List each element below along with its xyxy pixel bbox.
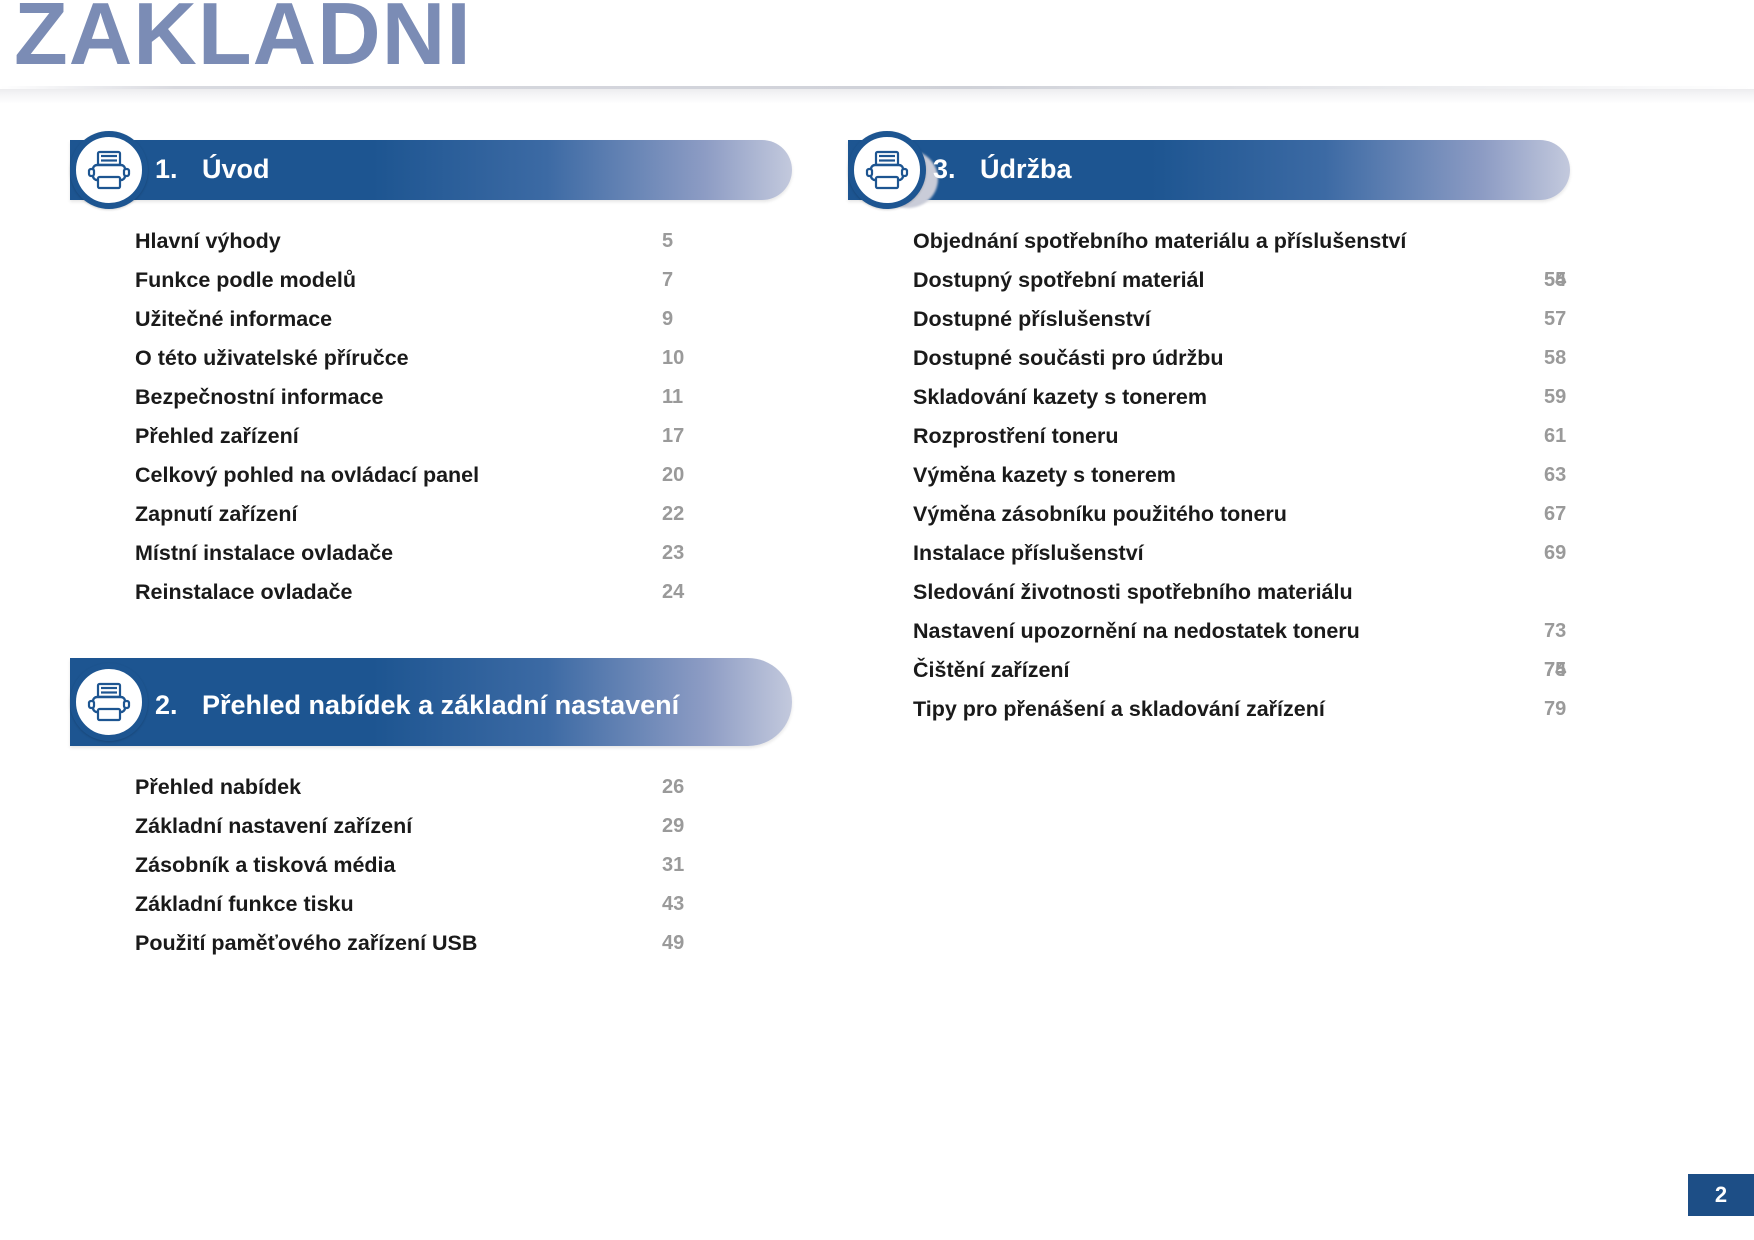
toc-entry[interactable]: Bezpečnostní informace 11 bbox=[135, 378, 792, 417]
toc-entry[interactable]: Hlavní výhody 5 bbox=[135, 222, 792, 261]
toc-entry[interactable]: Dostupné součásti pro údržbu 58 bbox=[913, 339, 1570, 378]
section-3-banner: 3. Údržba bbox=[848, 140, 1570, 200]
toc-entry-label: Nastavení upozornění na nedostatek toner… bbox=[913, 619, 1360, 643]
left-column: 1. Úvod Hlavní výhody 5 Funkce podle mod… bbox=[22, 140, 792, 963]
toc-entry[interactable]: Rozprostření toneru 61 bbox=[913, 417, 1570, 456]
toc-entry-page: 43 bbox=[662, 885, 684, 924]
toc-entry[interactable]: Základní funkce tisku 43 bbox=[135, 885, 792, 924]
toc-entry-page: 5 bbox=[662, 222, 673, 261]
toc-entry-page: 73 bbox=[1544, 612, 1566, 651]
toc-entry-label: Tipy pro přenášení a skladování zařízení bbox=[913, 697, 1325, 721]
toc-entry-page: 31 bbox=[662, 846, 684, 885]
toc-entry-label: Užitečné informace bbox=[135, 307, 332, 331]
toc-entry-page: 26 bbox=[662, 768, 684, 807]
toc-entry-label: Objednání spotřebního materiálu a příslu… bbox=[913, 229, 1406, 253]
toc-entry-label: O této uživatelské příručce bbox=[135, 346, 409, 370]
toc-entry[interactable]: Přehled zařízení 17 bbox=[135, 417, 792, 456]
toc-entry-label: Základní nastavení zařízení bbox=[135, 814, 412, 838]
toc-entry-page: 11 bbox=[662, 378, 683, 417]
toc-entry-label: Bezpečnostní informace bbox=[135, 385, 384, 409]
section-3-toc: Objednání spotřebního materiálu a příslu… bbox=[800, 222, 1570, 729]
toc-entry-label: Dostupné součásti pro údržbu bbox=[913, 346, 1224, 370]
section-1-toc: Hlavní výhody 5 Funkce podle modelů 7 Už… bbox=[22, 222, 792, 612]
toc-entry-label: Funkce podle modelů bbox=[135, 268, 356, 292]
toc-entry-label: Výměna zásobníku použitého toneru bbox=[913, 502, 1287, 526]
printer-icon bbox=[848, 131, 926, 209]
toc-entry-label: Základní funkce tisku bbox=[135, 892, 354, 916]
toc-entry-label: Reinstalace ovladače bbox=[135, 580, 353, 604]
toc-entry-label: Zásobník a tisková média bbox=[135, 853, 396, 877]
toc-entry-label: Použití paměťového zařízení USB bbox=[135, 931, 477, 955]
toc-entry[interactable]: Dostupný spotřební materiál 55 bbox=[913, 261, 1570, 300]
toc-entry[interactable]: Reinstalace ovladače 24 bbox=[135, 573, 792, 612]
toc-entry[interactable]: Užitečné informace 9 bbox=[135, 300, 792, 339]
toc-entry[interactable]: Funkce podle modelů 7 bbox=[135, 261, 792, 300]
toc-entry[interactable]: Zásobník a tisková média 31 bbox=[135, 846, 792, 885]
section-1: 1. Úvod Hlavní výhody 5 Funkce podle mod… bbox=[22, 140, 792, 612]
section-1-label: Úvod bbox=[202, 153, 270, 187]
page-title: ZÁKLADNÍ bbox=[14, 0, 472, 80]
toc-entry-page: 29 bbox=[662, 807, 684, 846]
page-number-badge: 2 bbox=[1688, 1174, 1754, 1216]
toc-entry[interactable]: Základní nastavení zařízení 29 bbox=[135, 807, 792, 846]
toc-entry-label: Zapnutí zařízení bbox=[135, 502, 297, 526]
toc-entry-label: Skladování kazety s tonerem bbox=[913, 385, 1207, 409]
toc-entry-page: 23 bbox=[662, 534, 684, 573]
section-3-number: 3. bbox=[933, 153, 980, 187]
toc-entry-page: 20 bbox=[662, 456, 684, 495]
toc-entry-page: 10 bbox=[662, 339, 684, 378]
toc-entry[interactable]: Sledování životnosti spotřebního materiá… bbox=[913, 573, 1383, 612]
toc-entry[interactable]: Přehled nabídek 26 bbox=[135, 768, 792, 807]
toc-entry-page: 61 bbox=[1544, 417, 1566, 456]
toc-entry-page: 75 bbox=[1544, 651, 1566, 690]
toc-entry-page: 55 bbox=[1544, 261, 1566, 300]
toc-entry-label: Místní instalace ovladače bbox=[135, 541, 393, 565]
toc-entry-label: Instalace příslušenství bbox=[913, 541, 1144, 565]
section-2: 2. Přehled nabídek a základní nastavení … bbox=[22, 658, 792, 963]
toc-entry-label: Hlavní výhody bbox=[135, 229, 281, 253]
toc-entry-page: 69 bbox=[1544, 534, 1566, 573]
toc-entry-page: 63 bbox=[1544, 456, 1566, 495]
toc-entry[interactable]: Objednání spotřebního materiálu a příslu… bbox=[913, 222, 1433, 261]
toc-entry-label: Výměna kazety s tonerem bbox=[913, 463, 1176, 487]
toc-entry[interactable]: Skladování kazety s tonerem 59 bbox=[913, 378, 1570, 417]
printer-icon bbox=[70, 663, 148, 741]
toc-entry-label: Čištění zařízení bbox=[913, 658, 1070, 682]
toc-entry[interactable]: Výměna zásobníku použitého toneru 67 bbox=[913, 495, 1570, 534]
toc-entry-page: 59 bbox=[1544, 378, 1566, 417]
toc-entry-label: Přehled zařízení bbox=[135, 424, 299, 448]
toc-entry-page: 57 bbox=[1544, 300, 1566, 339]
toc-entry-page: 7 bbox=[662, 261, 673, 300]
section-1-banner: 1. Úvod bbox=[70, 140, 792, 200]
section-3-label: Údržba bbox=[980, 153, 1072, 187]
toc-entry[interactable]: Instalace příslušenství 69 bbox=[913, 534, 1570, 573]
toc-entry[interactable]: Výměna kazety s tonerem 63 bbox=[913, 456, 1570, 495]
toc-entry[interactable]: Nastavení upozornění na nedostatek toner… bbox=[913, 612, 1413, 651]
toc-entry[interactable]: Místní instalace ovladače 23 bbox=[135, 534, 792, 573]
toc-entry-page: 49 bbox=[662, 924, 684, 963]
toc-entry[interactable]: Tipy pro přenášení a skladování zařízení… bbox=[913, 690, 1570, 729]
toc-entry-page: 24 bbox=[662, 573, 684, 612]
toc-entry-page: 67 bbox=[1544, 495, 1566, 534]
printer-icon bbox=[70, 131, 148, 209]
toc-entry-page: 17 bbox=[662, 417, 684, 456]
masthead-divider bbox=[0, 86, 1754, 104]
toc-entry[interactable]: O této uživatelské příručce 10 bbox=[135, 339, 792, 378]
toc-entry[interactable]: Čištění zařízení 75 bbox=[913, 651, 1570, 690]
toc-entry[interactable]: Celkový pohled na ovládací panel 20 bbox=[135, 456, 792, 495]
toc-entry-page: 58 bbox=[1544, 339, 1566, 378]
toc-entry[interactable]: Zapnutí zařízení 22 bbox=[135, 495, 792, 534]
section-2-title: 2. Přehled nabídek a základní nastavení bbox=[70, 681, 679, 723]
toc-entry-label: Dostupné příslušenství bbox=[913, 307, 1151, 331]
toc-entry-label: Celkový pohled na ovládací panel bbox=[135, 463, 479, 487]
right-column: 3. Údržba Objednání spotřebního materiál… bbox=[800, 140, 1570, 729]
toc-entry-label: Rozprostření toneru bbox=[913, 424, 1118, 448]
section-2-banner: 2. Přehled nabídek a základní nastavení bbox=[70, 658, 792, 746]
toc-entry[interactable]: Dostupné příslušenství 57 bbox=[913, 300, 1570, 339]
toc-entry[interactable]: Použití paměťového zařízení USB 49 bbox=[135, 924, 792, 963]
section-2-number: 2. bbox=[155, 689, 202, 723]
toc-entry-page: 22 bbox=[662, 495, 684, 534]
section-2-label: Přehled nabídek a základní nastavení bbox=[202, 689, 679, 723]
section-3: 3. Údržba Objednání spotřebního materiál… bbox=[800, 140, 1570, 729]
toc-entry-page: 9 bbox=[662, 300, 673, 339]
toc-entry-label: Sledování životnosti spotřebního materiá… bbox=[913, 580, 1353, 604]
document-page: ZÁKLADNÍ 1. Úvod bbox=[0, 0, 1754, 1240]
toc-entry-label: Přehled nabídek bbox=[135, 775, 301, 799]
section-1-number: 1. bbox=[155, 153, 202, 187]
section-2-toc: Přehled nabídek 26 Základní nastavení za… bbox=[22, 768, 792, 963]
toc-entry-page: 79 bbox=[1544, 690, 1566, 729]
toc-entry-label: Dostupný spotřební materiál bbox=[913, 268, 1205, 292]
